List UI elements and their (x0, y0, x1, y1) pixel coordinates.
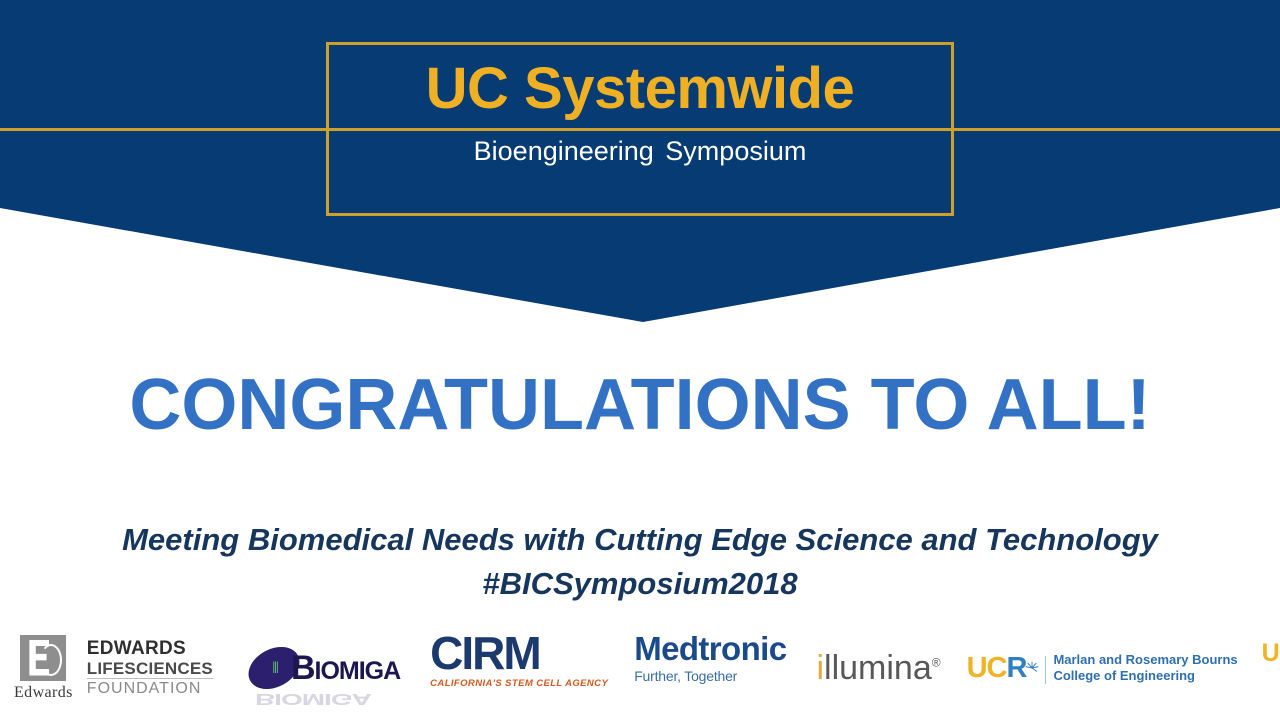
cirm-tagline: CALIFORNIA'S STEM CELL AGENCY (430, 678, 608, 689)
edwards-line-3: FOUNDATION (87, 678, 213, 698)
page-title: UC Systemwide (426, 59, 855, 120)
edwards-e-glyph-icon (20, 635, 66, 681)
sponsor-logo-edwards: Edwards EDWARDS LIFESCIENCES FOUNDATION (14, 632, 213, 704)
sponsor-logo-uc-riverside-research: UNIVERSITY OF CALIFORNIA UCRIVERSIDE Res… (1262, 632, 1280, 704)
medtronic-tagline: Further, Together (634, 668, 737, 684)
tagline-line-2: #BICSymposium2018 (0, 562, 1280, 606)
ucr-coe-line-2: College of Engineering (1053, 668, 1237, 684)
sunburst-icon (1025, 661, 1039, 675)
biomiga-lockup: ⦀ BIOMIGA BIOMIGA (247, 649, 400, 688)
page-subtitle: Bioengineering Symposium (474, 136, 807, 167)
edwards-mark-icon: Edwards (14, 635, 73, 702)
illumina-wordmark: illumina® (816, 649, 940, 688)
sponsor-logo-medtronic: Medtronic Further, Together (634, 632, 786, 704)
ucr-red-lockup: UNIVERSITY OF CALIFORNIA UCRIVERSIDE Res… (1262, 631, 1280, 704)
biomiga-rest: IOMIGA (315, 657, 401, 685)
ucr-divider (1045, 656, 1046, 684)
sponsor-logo-strip: Edwards EDWARDS LIFESCIENCES FOUNDATION … (0, 618, 1280, 718)
ucr-uc-mark: UC (967, 652, 1007, 685)
biomiga-initial: B (291, 649, 315, 687)
sponsor-logo-ucr-college-of-engineering: UCRMarlan and Rosemary BournsCollege of … (967, 632, 1238, 704)
cirm-wordmark: CIRM (430, 632, 540, 676)
registered-mark-icon: ® (932, 655, 941, 669)
sponsor-logo-illumina: illumina® (816, 632, 940, 704)
medtronic-wordmark: Medtronic (634, 632, 786, 665)
ucr-coe-text: Marlan and Rosemary BournsCollege of Eng… (1053, 652, 1237, 685)
ucr-red-uc: UC (1262, 639, 1280, 667)
dna-helix-icon: ⦀ (272, 659, 276, 677)
tagline-block: Meeting Biomedical Needs with Cutting Ed… (0, 518, 1280, 606)
biomiga-wordmark: BIOMIGA (291, 649, 400, 688)
illumina-initial: i (816, 649, 824, 687)
illumina-rest: llumina (824, 649, 932, 687)
ucr-coe-line-1: Marlan and Rosemary Bourns (1053, 652, 1237, 668)
title-frame: UC Systemwide Bioengineering Symposium (326, 42, 954, 216)
edwards-wordmark: Edwards (14, 684, 73, 702)
ucr-red-wordmark: UCRIVERSIDE (1262, 640, 1280, 666)
slide-canvas: UC Systemwide Bioengineering Symposium C… (0, 0, 1280, 720)
biomiga-reflection: BIOMIGA (255, 690, 371, 708)
sponsor-logo-cirm: CIRM CALIFORNIA'S STEM CELL AGENCY (430, 632, 608, 704)
sponsor-logo-biomiga: ⦀ BIOMIGA BIOMIGA (247, 632, 400, 704)
tagline-line-1: Meeting Biomedical Needs with Cutting Ed… (122, 522, 1158, 557)
headline-congratulations: CONGRATULATIONS TO ALL! (0, 364, 1280, 446)
ucr-r-mark: R (1006, 652, 1026, 685)
edwards-lockup-text: EDWARDS LIFESCIENCES FOUNDATION (87, 638, 213, 698)
edwards-line-2: LIFESCIENCES (87, 659, 213, 678)
edwards-line-1: EDWARDS (87, 638, 213, 659)
